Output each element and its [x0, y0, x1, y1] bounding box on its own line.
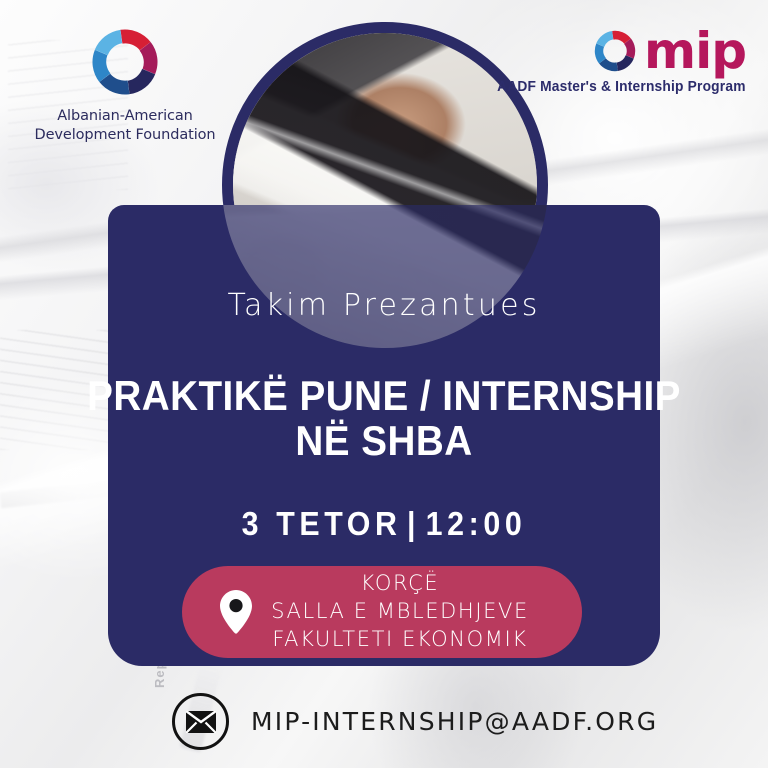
location-pill: KORÇË SALLA E MBLEDHJEVE FAKULTETI EKONO…	[182, 566, 582, 658]
headline-line-1: PRAKTIKË PUNE / INTERNSHIP	[87, 372, 681, 419]
aadf-name-line-1: Albanian-American	[30, 107, 220, 126]
event-kicker: Takim Prezantues	[0, 288, 768, 323]
contact-row[interactable]: MIP-INTERNSHIP@AADF.ORG	[172, 693, 658, 750]
hero-photo-bleed	[222, 205, 548, 348]
location-building: FAKULTETI EKONOMIK	[236, 626, 564, 654]
event-time: 12:00	[426, 505, 527, 542]
location-venue: SALLA E MBLEDHJEVE	[236, 598, 564, 626]
aadf-logo-text: Albanian-American Development Foundation	[30, 107, 220, 144]
envelope-icon	[172, 693, 229, 750]
event-datetime: 3 TETOR|12:00	[31, 505, 738, 543]
mip-pinwheel-icon	[592, 28, 638, 74]
background-paper-edge	[0, 480, 121, 508]
map-pin-icon	[220, 590, 252, 634]
mip-tagline: AADF Master's & Internship Program	[497, 79, 746, 95]
headline-line-2: NË SHBA	[31, 419, 738, 464]
aadf-pinwheel-icon	[88, 25, 162, 99]
datetime-separator: |	[402, 505, 426, 542]
handshake-document-signing-photo-bleed	[222, 205, 548, 348]
mip-logo: mip AADF Master's & Internship Program	[484, 28, 746, 95]
contact-email[interactable]: MIP-INTERNSHIP@AADF.ORG	[251, 707, 658, 736]
poster-canvas: Report Takim Prezantues PRAKTIKË PUNE / …	[0, 0, 768, 768]
event-date: 3 TETOR	[242, 505, 402, 542]
aadf-logo: Albanian-American Development Foundation	[30, 25, 220, 144]
mip-logo-top: mip	[484, 28, 746, 74]
location-city: KORÇË	[236, 570, 564, 598]
mip-wordmark: mip	[644, 30, 746, 73]
aadf-name-line-2: Development Foundation	[30, 126, 220, 145]
page-title: PRAKTIKË PUNE / INTERNSHIP NË SHBA	[31, 374, 738, 464]
